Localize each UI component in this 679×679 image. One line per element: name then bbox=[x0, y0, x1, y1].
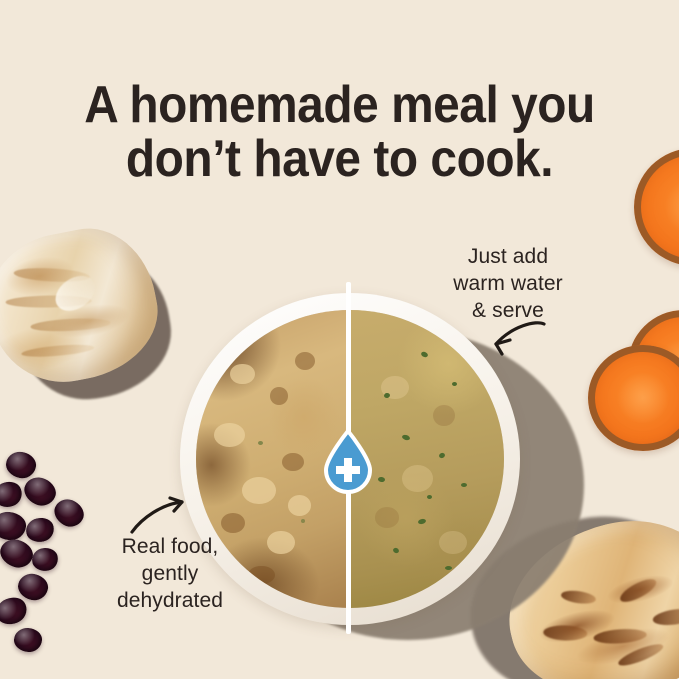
annotation-left-line-2: gently bbox=[80, 560, 260, 587]
annotation-right: Just add warm water & serve bbox=[423, 243, 593, 324]
headline-line-2: don’t have to cook. bbox=[27, 132, 652, 186]
curved-arrow-down-left-icon bbox=[482, 318, 552, 370]
headline-line-1: A homemade meal you bbox=[27, 78, 652, 132]
product-promo-image: A homemade meal you don’t have to cook. … bbox=[0, 0, 679, 679]
annotation-right-line-1: Just add bbox=[423, 243, 593, 270]
curved-arrow-up-right-icon bbox=[128, 494, 194, 540]
annotation-left-line-3: dehydrated bbox=[80, 587, 260, 614]
page-title: A homemade meal you don’t have to cook. bbox=[27, 78, 652, 186]
water-droplet-plus-icon bbox=[320, 428, 376, 503]
annotation-right-line-2: warm water bbox=[423, 270, 593, 297]
sweet-potato-slice-front bbox=[588, 345, 679, 451]
annotation-left: Real food, gently dehydrated bbox=[80, 533, 260, 614]
